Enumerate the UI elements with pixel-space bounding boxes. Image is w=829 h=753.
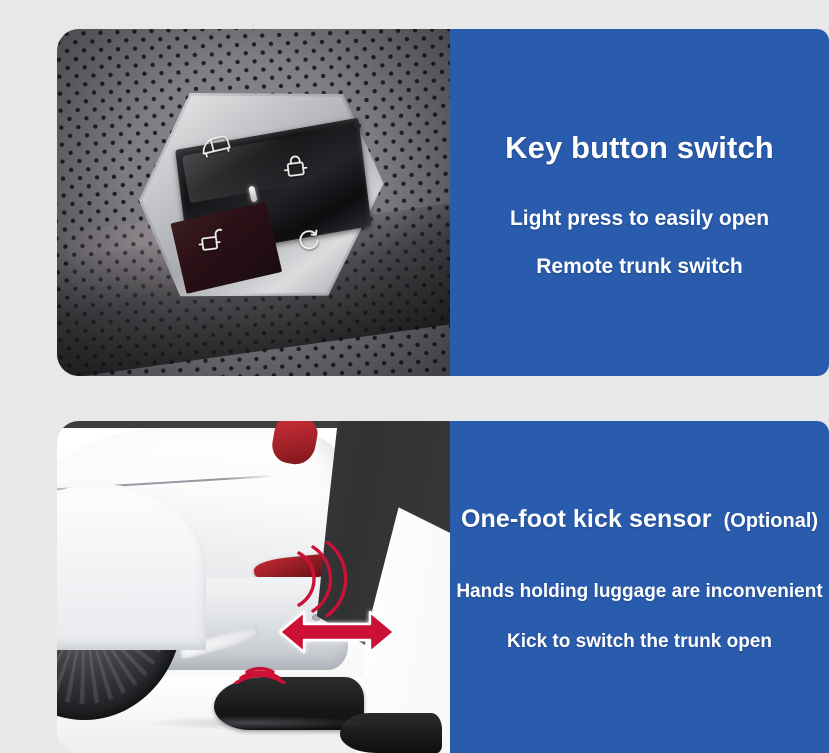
lock-icon <box>282 153 311 185</box>
panel-key-headline: Key button switch <box>505 130 774 166</box>
ground-shadow <box>143 716 363 730</box>
panel-key-button-switch: Key button switch Light press to easily … <box>57 29 829 376</box>
panel-one-foot-kick-sensor: One-foot kick sensor (Optional) Hands ho… <box>57 421 829 753</box>
panic-icon <box>295 226 322 258</box>
kick-direction-arrow-icon <box>277 604 397 660</box>
panel-kick-headline-row: One-foot kick sensor (Optional) <box>461 505 818 534</box>
unlock-icon <box>197 227 226 259</box>
panel-key-subline-2: Remote trunk switch <box>536 255 743 279</box>
standing-shoe <box>340 713 442 753</box>
kick-sensor-scene <box>57 421 450 753</box>
panel-kick-subline-2: Kick to switch the trunk open <box>507 631 772 653</box>
panel-kick-headline: One-foot kick sensor <box>461 505 712 534</box>
trunk-release-icon <box>198 132 235 165</box>
panel-kick-subline-1: Hands holding luggage are inconvenient <box>456 581 822 603</box>
kick-sensor-copy: One-foot kick sensor (Optional) Hands ho… <box>450 421 829 753</box>
kick-sensor-illustration <box>57 421 450 753</box>
car-key-fob-photo <box>57 29 450 376</box>
panel-key-subline-1: Light press to easily open <box>510 207 769 231</box>
key-fob <box>127 71 397 317</box>
key-button-switch-copy: Key button switch Light press to easily … <box>450 29 829 376</box>
panel-kick-optional-note: (Optional) <box>724 510 818 533</box>
